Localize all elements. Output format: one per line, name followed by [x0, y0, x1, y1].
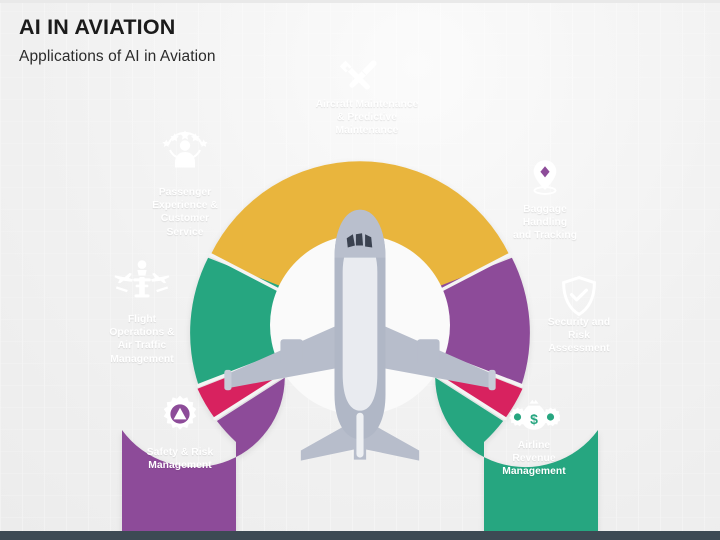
segment-airline-revenue[interactable] — [435, 378, 598, 540]
title-block: AI IN AVIATION Applications of AI in Avi… — [19, 16, 216, 66]
bottom-bar — [0, 531, 720, 540]
horseshoe-donut-chart — [0, 0, 720, 540]
top-edge-strip — [0, 0, 720, 3]
page-subtitle: Applications of AI in Aviation — [19, 48, 216, 66]
slide-canvas: AI IN AVIATION Applications of AI in Avi… — [0, 0, 720, 540]
page-title: AI IN AVIATION — [19, 16, 216, 39]
segment-safety-risk[interactable] — [122, 378, 285, 540]
